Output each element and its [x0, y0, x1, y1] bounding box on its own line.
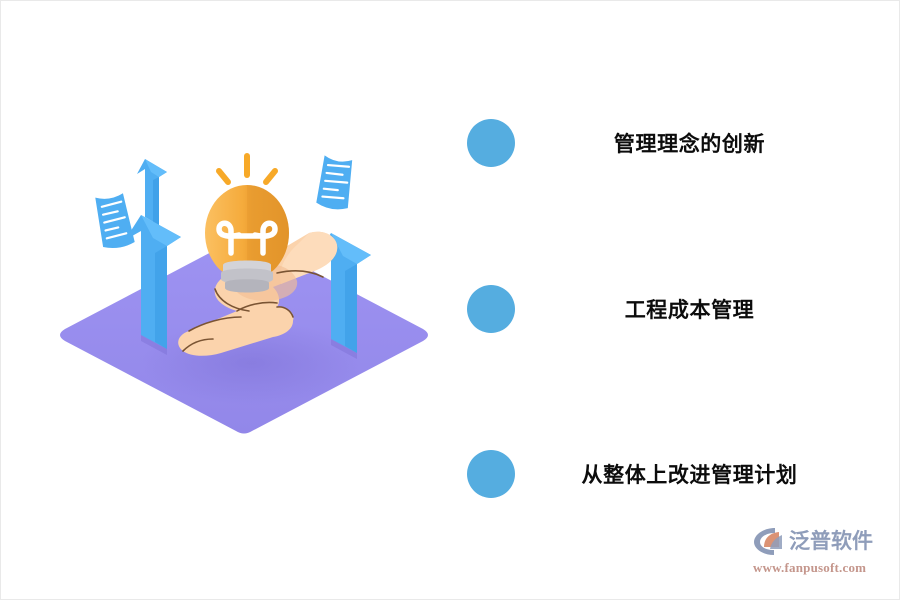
light-rays [219, 156, 275, 182]
watermark-top-row: 泛普软件 [753, 523, 883, 559]
bullet-label-1: 管理理念的创新 [515, 128, 886, 158]
watermark-brand: 泛普软件 [789, 531, 873, 552]
watermark-url: www.fanpusoft.com [753, 560, 883, 576]
floating-paper-right [316, 155, 356, 211]
bullet-dot-icon [467, 285, 515, 333]
bullet-label-3: 从整体上改进管理计划 [515, 459, 886, 489]
bullet-item-1[interactable]: 管理理念的创新 [456, 113, 886, 173]
bullet-item-2[interactable]: 工程成本管理 [456, 279, 886, 339]
bullet-label-2: 工程成本管理 [515, 294, 886, 324]
fanpu-logo-icon [753, 526, 787, 556]
bullet-dot-icon [467, 119, 515, 167]
bullet-dot-icon [467, 450, 515, 498]
bullet-item-3[interactable]: 从整体上改进管理计划 [456, 444, 886, 504]
illustration-hand-lightbulb [41, 141, 441, 421]
slide-canvas: 管理理念的创新 工程成本管理 从整体上改进管理计划 泛普软件 www.fanpu… [0, 0, 900, 600]
growth-arrow-back-left [137, 159, 167, 225]
floating-paper-left [95, 193, 135, 250]
watermark-logo: 泛普软件 www.fanpusoft.com [753, 523, 883, 583]
